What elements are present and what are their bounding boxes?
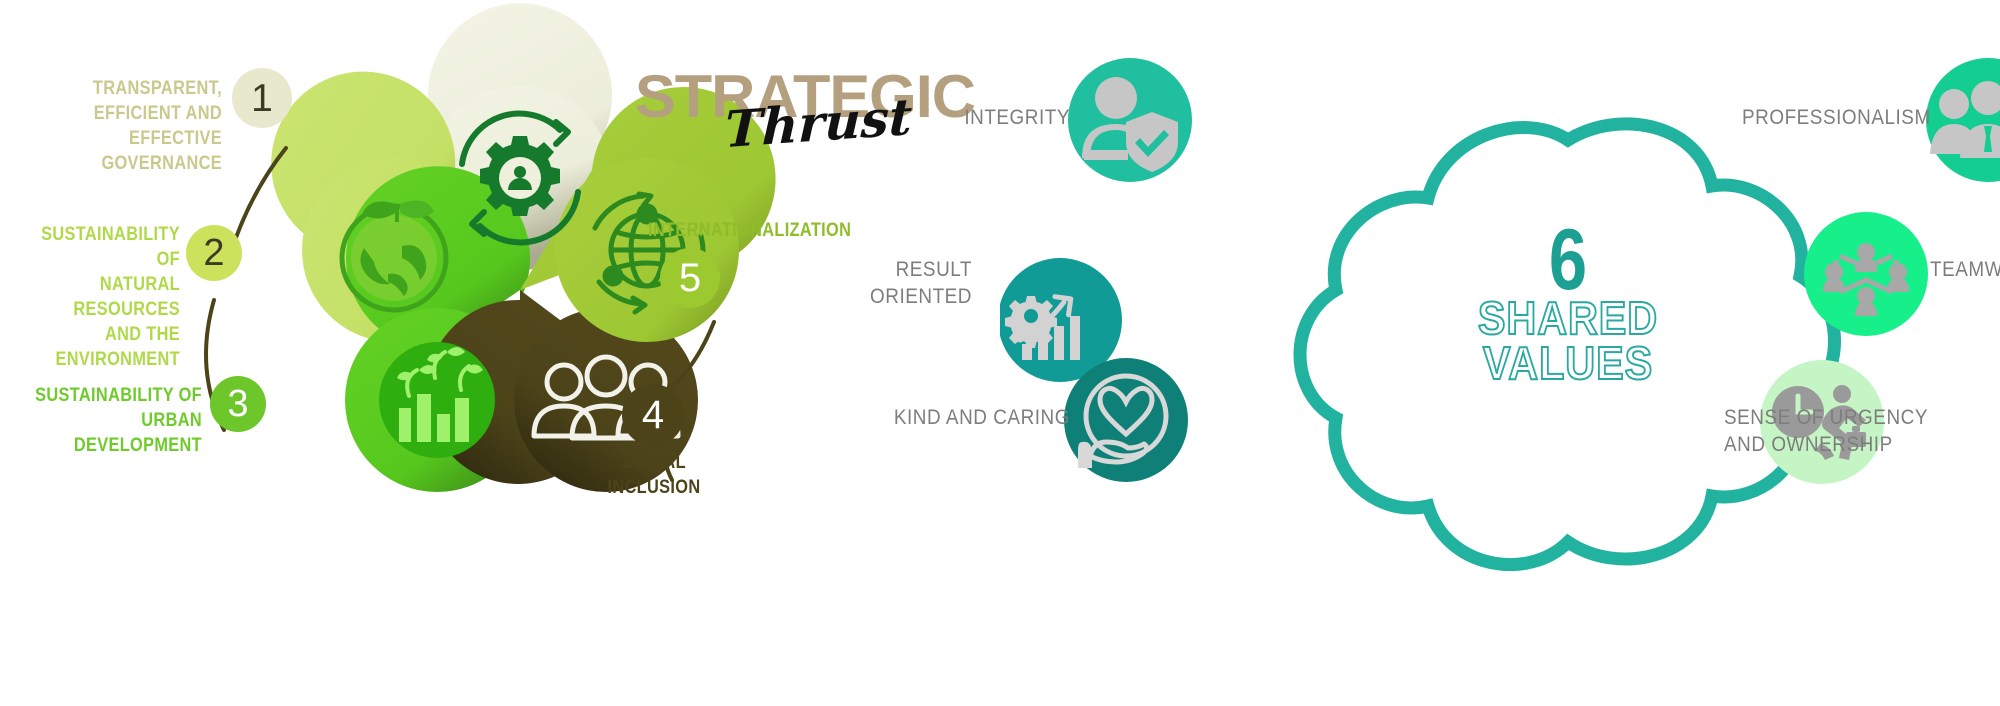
value-label-sense-of-urgency: SENSE OF URGENCY AND OWNERSHIP [1724, 404, 1940, 459]
shared-values-line2: VALUES [1469, 340, 1667, 386]
thrust-label-5: INTERNATIONALIZATION [648, 218, 854, 243]
thrust-number-4[interactable]: 4 [622, 384, 684, 446]
thrust-number-3[interactable]: 3 [210, 376, 266, 432]
thrust-number-5-value: 5 [679, 258, 701, 298]
thrust-label-4: SOCIAL INCLUSION [580, 450, 728, 500]
value-label-result-oriented: RESULT ORIENTED [792, 256, 972, 311]
value-label-teamwork: TEAMWORK [1930, 256, 2000, 283]
value-circle-integrity[interactable] [1068, 58, 1192, 182]
green-city-icon [379, 342, 495, 458]
value-circle-teamwork[interactable] [1804, 212, 1928, 336]
shared-values-count: 6 [1520, 222, 1616, 299]
thrust-number-3-value: 3 [227, 385, 248, 423]
thrust-number-2[interactable]: 2 [186, 225, 242, 281]
value-label-kind-and-caring: KIND AND CARING [877, 404, 1070, 431]
thrust-number-1[interactable]: 1 [232, 68, 292, 128]
thrust-number-5[interactable]: 5 [660, 248, 720, 308]
thrust-number-4-value: 4 [642, 395, 664, 435]
thrust-label-1: TRANSPARENT, EFFICIENT AND EFFECTIVE GOV… [31, 76, 222, 176]
thrust-label-3: SUSTAINABILITY OF URBAN DEVELOPMENT [28, 383, 202, 458]
value-label-integrity: INTEGRITY [917, 104, 1070, 131]
value-label-professionalism: PROFESSIONALISM [1742, 104, 1976, 131]
value-circle-kind-and-caring[interactable] [1064, 358, 1188, 482]
thrust-number-1-value: 1 [251, 79, 273, 118]
infographic-canvas: TRANSPARENT, EFFICIENT AND EFFECTIVE GOV… [0, 0, 2000, 706]
shared-values-line1: SHARED [1469, 295, 1667, 341]
thrust-label-2: SUSTAINABILITY OF NATURAL RESOURCES AND … [25, 222, 180, 372]
thrust-number-2-value: 2 [203, 234, 224, 272]
